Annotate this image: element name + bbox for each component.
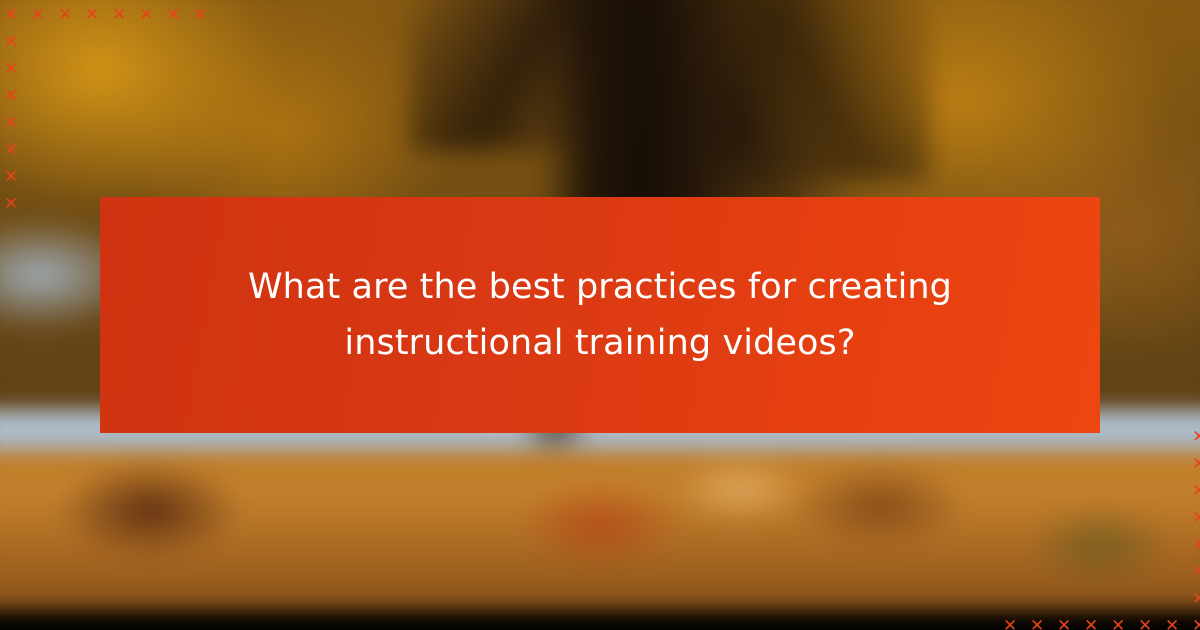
fallen-leaves [0, 450, 1200, 610]
question-banner: What are the best practices for creating… [100, 197, 1100, 433]
share-card: ✕✕✕✕✕✕✕✕✕✕✕✕✕✕✕ ✕✕✕✕✕✕✕✕✕✕✕✕✕✕✕ What are… [0, 0, 1200, 630]
question-text: What are the best practices for creating… [220, 259, 980, 371]
